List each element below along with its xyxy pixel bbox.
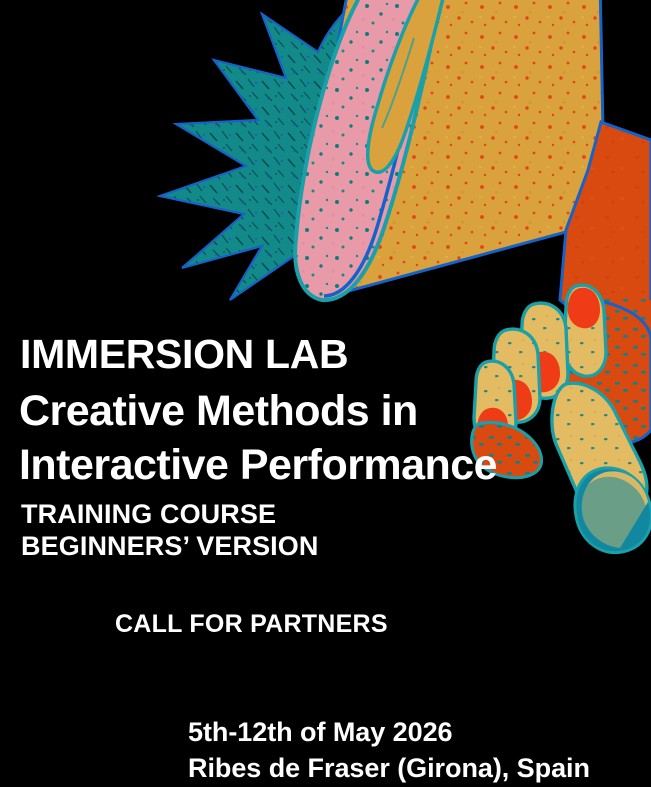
subtitle-beginners-version: BEGINNERS’ VERSION — [21, 533, 319, 560]
program-name: IMMERSION LAB — [20, 334, 348, 375]
course-title-line-1: Creative Methods in — [19, 390, 418, 433]
event-dates: 5th-12th of May 2026 — [188, 719, 453, 746]
poster-text-block: IMMERSION LAB Creative Methods in Intera… — [0, 0, 651, 787]
event-location: Ribes de Fraser (Girona), Spain — [188, 755, 590, 782]
course-title-line-2: Interactive Performance — [19, 444, 497, 487]
subtitle-training-course: TRAINING COURSE — [21, 501, 276, 528]
call-for-partners-label: CALL FOR PARTNERS — [115, 612, 388, 637]
poster-canvas: IMMERSION LAB Creative Methods in Intera… — [0, 0, 651, 787]
